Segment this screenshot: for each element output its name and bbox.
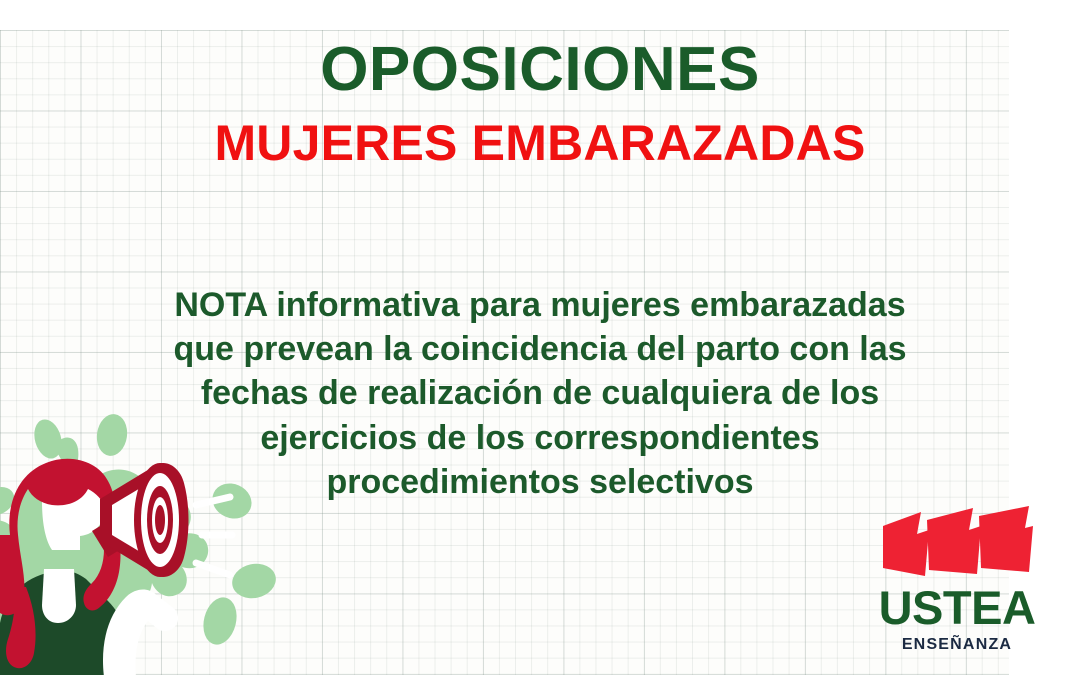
- body-line: NOTA informativa para mujeres embarazada…: [40, 283, 1040, 327]
- neck-silhouette: [42, 569, 76, 623]
- page-subtitle: MUJERES EMBARAZADAS: [0, 117, 1080, 169]
- body-paragraph: NOTA informativa para mujeres embarazada…: [40, 283, 1040, 504]
- lightning-bolt-flag-icon: [877, 504, 1037, 582]
- body-line: procedimientos selectivos: [40, 460, 1040, 504]
- ustea-logo: USTEA ENSEÑANZA: [868, 504, 1046, 653]
- heading-block: OPOSICIONES MUJERES EMBARAZADAS: [0, 0, 1080, 169]
- logo-tagline: ENSEÑANZA: [868, 637, 1046, 653]
- page-title: OPOSICIONES: [0, 38, 1080, 101]
- body-line: fechas de realización de cualquiera de l…: [40, 371, 1040, 415]
- poster-canvas: OPOSICIONES MUJERES EMBARAZADAS NOTA inf…: [0, 0, 1080, 675]
- body-line: ejercicios de los correspondientes: [40, 416, 1040, 460]
- logo-wordmark: USTEA: [868, 584, 1046, 631]
- body-line: que prevean la coincidencia del parto co…: [40, 327, 1040, 371]
